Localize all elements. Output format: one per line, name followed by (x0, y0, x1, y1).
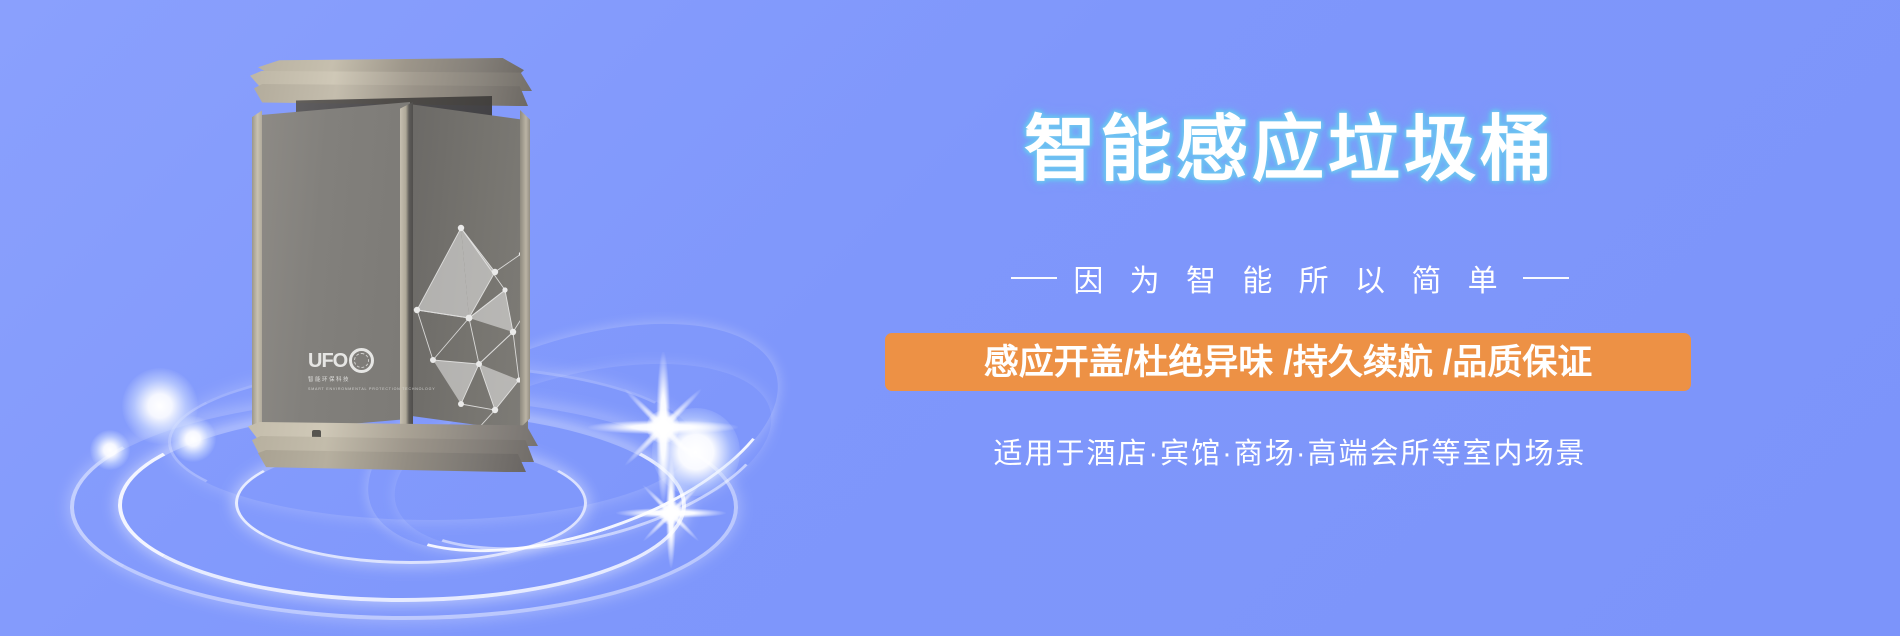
glow-orb (652, 408, 740, 496)
brand-logo-circle-icon (349, 348, 374, 373)
product-image-trash-bin: UFO 智能环保科技 SMART ENVIRONMENTAL PROTECTIO… (236, 58, 546, 458)
subtitle: 因 为 智 能 所 以 简 单 (1073, 256, 1506, 300)
glow-orb (122, 368, 198, 444)
dash-left-icon (1011, 277, 1057, 279)
promo-banner: UFO 智能环保科技 SMART ENVIRONMENTAL PROTECTIO… (0, 0, 1900, 636)
brand-logo-text: UFO (308, 351, 347, 371)
dash-right-icon (1523, 277, 1569, 279)
brand-logo-cn-text: 智能环保科技 (308, 375, 394, 383)
brand-logo: UFO 智能环保科技 SMART ENVIRONMENTAL PROTECTIO… (308, 348, 394, 392)
feature-highlight-bar: 感应开盖/杜绝异味 /持久续航 /品质保证 (885, 333, 1691, 391)
glow-orb (90, 430, 130, 470)
bin-corner-trim-left (252, 104, 262, 432)
polygon-network-graphic (409, 104, 528, 432)
bin-corner-trim-center (400, 102, 413, 434)
feature-list: 感应开盖/杜绝异味 /持久续航 /品质保证 (984, 345, 1593, 380)
sparkle-icon (616, 458, 726, 568)
brand-logo-sub-text: SMART ENVIRONMENTAL PROTECTION TECHNOLOG… (308, 387, 394, 392)
subtitle-row: 因 为 智 能 所 以 简 单 (885, 256, 1695, 300)
sparkle-icon (588, 352, 738, 502)
headline: 智能感应垃圾桶 (885, 114, 1695, 186)
bin-side-panel (409, 104, 528, 432)
bin-corner-trim-right (520, 110, 530, 428)
tagline: 适用于酒店·宾馆·商场·高端会所等室内场景 (885, 430, 1695, 472)
glow-orb (170, 416, 216, 462)
